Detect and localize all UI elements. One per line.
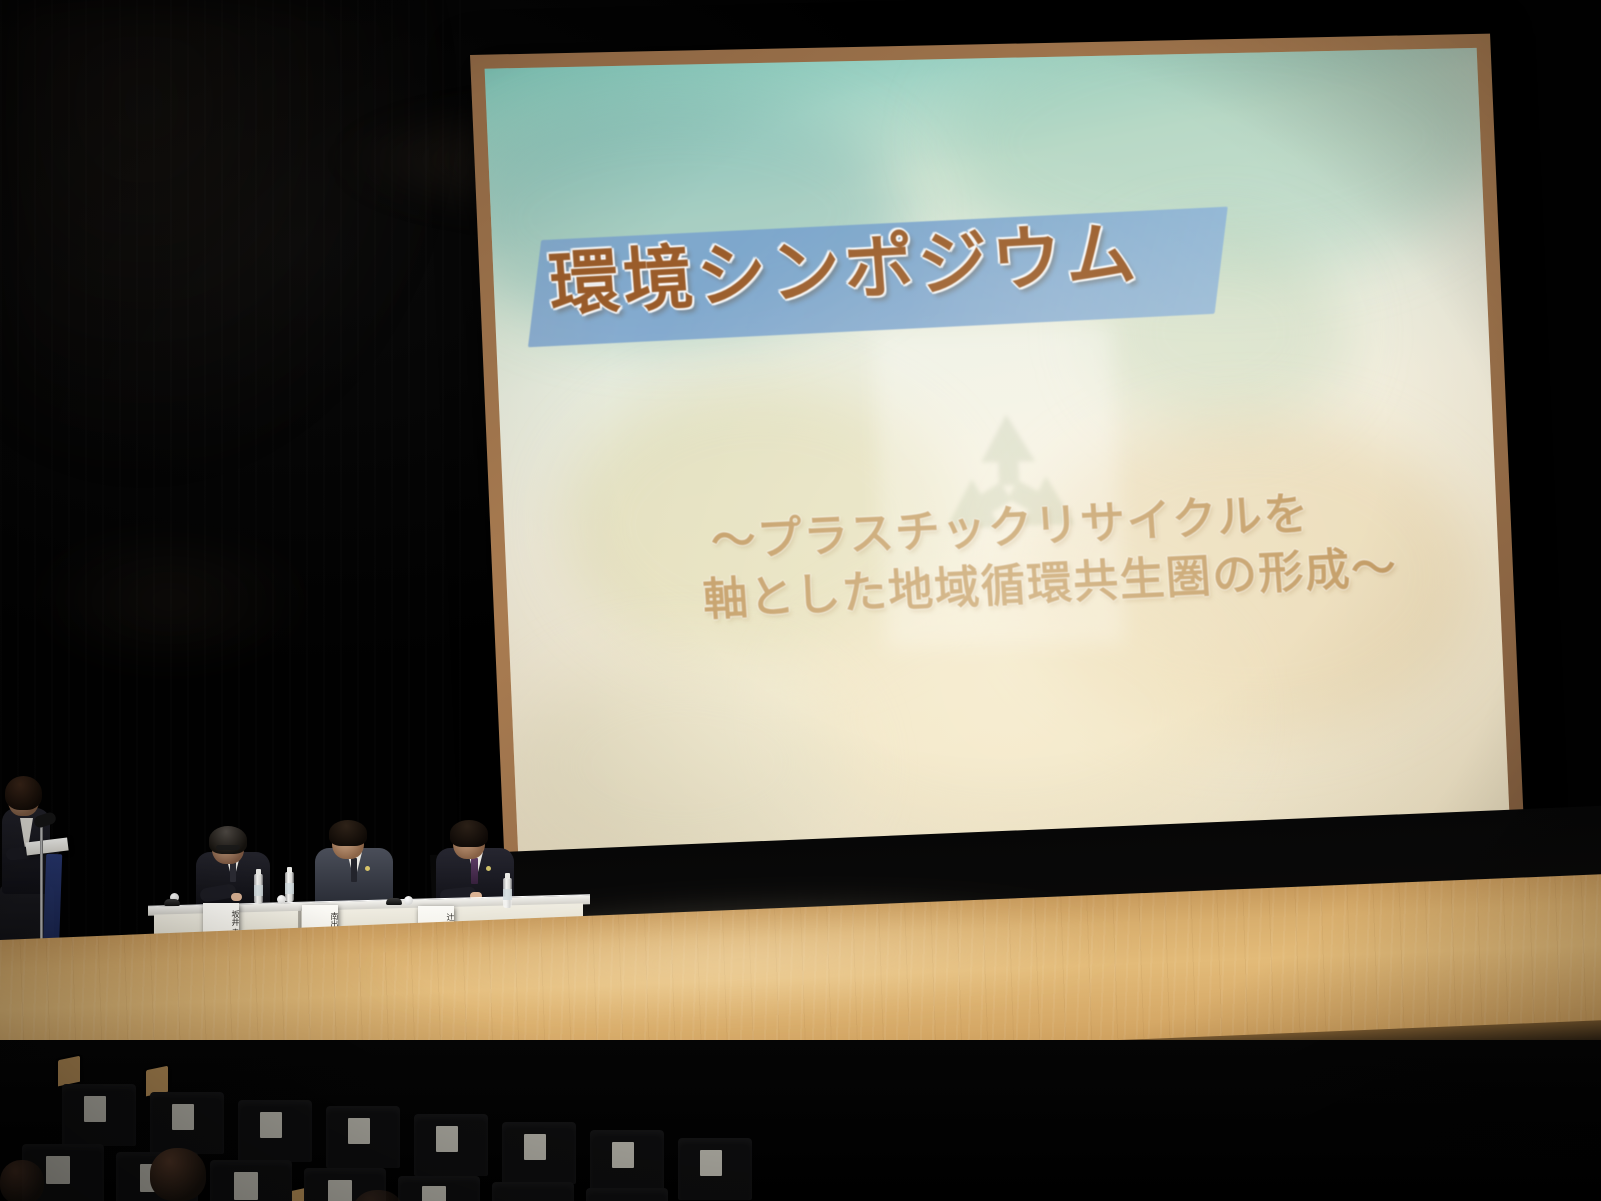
seat-number-card — [700, 1150, 722, 1176]
water-bottle-1 — [254, 874, 263, 904]
panelist-2-tie — [351, 858, 357, 882]
panelist-3-lapel-pin-icon — [486, 866, 491, 871]
audience-seat — [492, 1182, 574, 1201]
audience-seat — [586, 1188, 668, 1201]
panelist-1-glasses-icon — [216, 845, 240, 850]
seat-number-card — [612, 1142, 634, 1168]
stage-photo-scene: 環境シンポジウム ～プラスチックリサイクルを 軸とした地域循環共生圏の形成～ — [0, 0, 1601, 1201]
panelist-3-hair — [450, 820, 488, 847]
backdrop-light-sheen — [0, 0, 480, 520]
seat-number-card — [524, 1134, 546, 1160]
water-bottle-2 — [285, 872, 294, 902]
seat-number-card — [234, 1172, 258, 1200]
seat-number-card — [436, 1126, 458, 1152]
seat-number-card — [260, 1112, 282, 1138]
panelist-1-tie — [230, 862, 236, 882]
audience-head — [0, 1160, 44, 1201]
water-bottle-3 — [503, 878, 512, 908]
audience-seating — [0, 1040, 1601, 1201]
seat-number-card — [46, 1156, 70, 1184]
slide-surface: 環境シンポジウム ～プラスチックリサイクルを 軸とした地域循環共生圏の形成～ — [485, 48, 1511, 862]
seat-number-card — [84, 1096, 106, 1122]
seat-armrest — [58, 1056, 80, 1087]
seat-number-card — [172, 1104, 194, 1130]
seat-number-card — [328, 1180, 352, 1201]
panel-microphone-1 — [164, 899, 180, 906]
panel-mic-ball — [404, 896, 413, 905]
seat-number-card — [422, 1186, 446, 1201]
panelist-2-lapel-pin-icon — [365, 866, 370, 871]
projection-screen: 環境シンポジウム ～プラスチックリサイクルを 軸とした地域循環共生圏の形成～ — [470, 34, 1525, 875]
panelist-3-tie — [471, 858, 478, 884]
seat-number-card — [348, 1118, 370, 1144]
panel-microphone-2 — [386, 898, 402, 905]
panelist-1-hand — [231, 893, 242, 901]
audience-head — [150, 1148, 206, 1201]
panelist-2-hair — [329, 820, 367, 846]
moderator-hair — [5, 776, 42, 810]
panel-mic-ball — [277, 895, 286, 904]
